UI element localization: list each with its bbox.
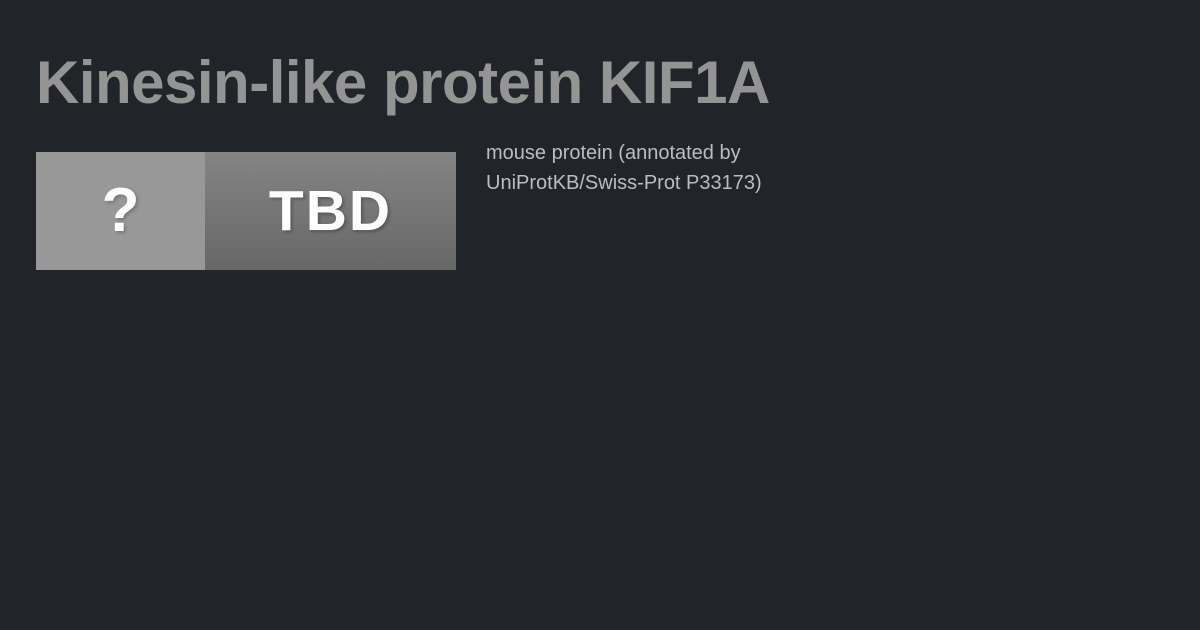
page-title: Kinesin-like protein KIF1A	[36, 47, 770, 119]
thumbnail-left-panel: ?	[36, 152, 205, 270]
description-text: mouse protein (annotated by UniProtKB/Sw…	[486, 138, 816, 198]
question-mark-icon: ?	[102, 180, 140, 242]
preview-card: Kinesin-like protein KIF1A ? TBD mouse p…	[0, 0, 1200, 630]
thumbnail-placeholder[interactable]: ? TBD	[36, 152, 456, 270]
tbd-label: TBD	[269, 183, 392, 240]
media-row: ? TBD mouse protein (annotated by UniPro…	[36, 138, 1176, 278]
thumbnail-right-panel: TBD	[205, 152, 456, 270]
